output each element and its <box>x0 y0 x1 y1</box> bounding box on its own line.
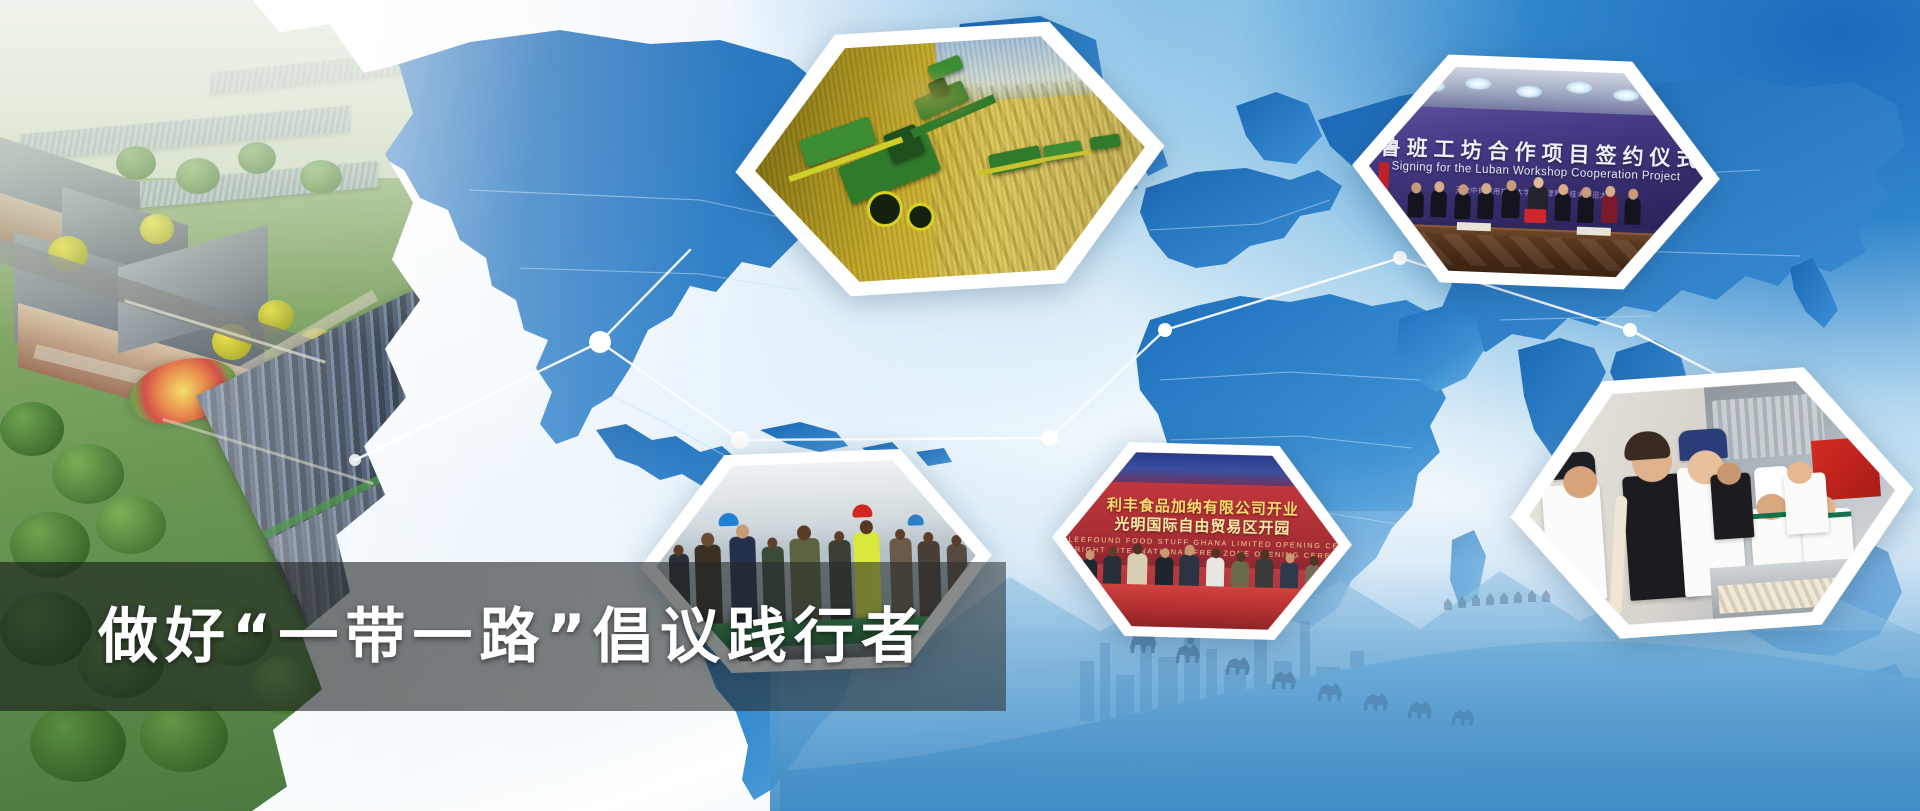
hero-banner-image: 鲁班工坊合作项目签约仪式 Signing for the Luban Works… <box>0 0 1920 811</box>
hex-photo-agriculture <box>727 15 1172 303</box>
hex-photo-luban-signing: 鲁班工坊合作项目签约仪式 Signing for the Luban Works… <box>1348 51 1724 293</box>
hex-photo-leefound-ceremony: 利丰食品加纳有限公司开业 光明国际自由贸易区开园 LEEFOUND FOOD S… <box>1050 440 1355 642</box>
hex-photo-culinary-training <box>1501 360 1920 646</box>
title-banner: 做好“一带一路”倡议践行者 <box>0 562 1006 711</box>
culinary-training-photo <box>1521 375 1903 631</box>
page-title: 做好“一带一路”倡议践行者 <box>98 607 928 667</box>
